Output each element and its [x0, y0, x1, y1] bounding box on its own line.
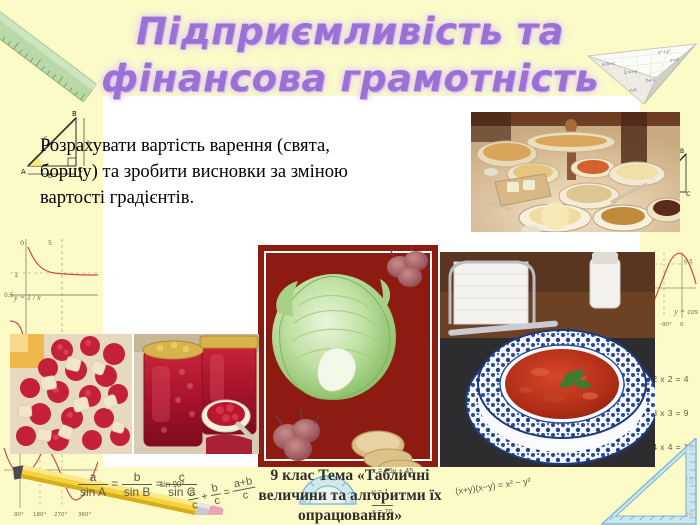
photo-festive-table	[471, 112, 680, 232]
sines-num-b: b	[122, 470, 153, 485]
svg-text:B: B	[680, 148, 684, 155]
svg-text:0: 0	[20, 239, 24, 247]
sines-num-a: a	[78, 470, 108, 485]
svg-text:b+c: b+c	[646, 77, 656, 84]
svg-text:z=0: z=0	[670, 57, 680, 64]
slide-title: Підприємливість та фінансова грамотність	[60, 8, 640, 102]
sines-den-b: sin B	[122, 485, 153, 499]
svg-text:C: C	[686, 190, 691, 198]
svg-text:5: 5	[48, 239, 52, 247]
footer-line-2: величини та алгоритми їх	[150, 486, 550, 506]
svg-text:0,5: 0,5	[684, 259, 693, 265]
slide-body-text: Розрахувати вартість варення (свята, бор…	[40, 133, 360, 211]
slide-canvas: A B C b c a 0 1 5 0,5 0 80°	[0, 0, 700, 525]
svg-text:-90°: -90°	[660, 322, 672, 328]
graph-inverse-label: y = 1 / x	[14, 293, 41, 302]
mult-row: 3 x 3 = 9	[652, 408, 694, 419]
title-line-2: фінансова грамотність	[60, 55, 640, 102]
sines-eq-1: =	[111, 477, 118, 491]
mult-row: 2 x 2 = 4	[652, 374, 694, 385]
graph-cosine-label: y = cos	[674, 307, 698, 316]
svg-text:0: 0	[680, 322, 684, 328]
slide-footer: 9 клас Тема «Табличні величини та алгори…	[150, 466, 550, 525]
title-line-1: Підприємливість та	[60, 8, 640, 55]
svg-text:1: 1	[14, 271, 18, 279]
sines-den-a: sin A	[78, 485, 108, 499]
photo-cabbage-collage	[258, 245, 438, 467]
footer-line-3: опрацювання»	[150, 506, 550, 525]
photo-raspberry-jam-jars	[134, 334, 259, 454]
svg-text:0,5: 0,5	[4, 292, 14, 299]
photo-raspberries-with-apple	[10, 334, 132, 454]
footer-line-1: 9 клас Тема «Табличні	[150, 466, 550, 486]
photo-borscht-bowl	[440, 252, 655, 467]
triangle-vertex-a: A	[21, 168, 26, 176]
